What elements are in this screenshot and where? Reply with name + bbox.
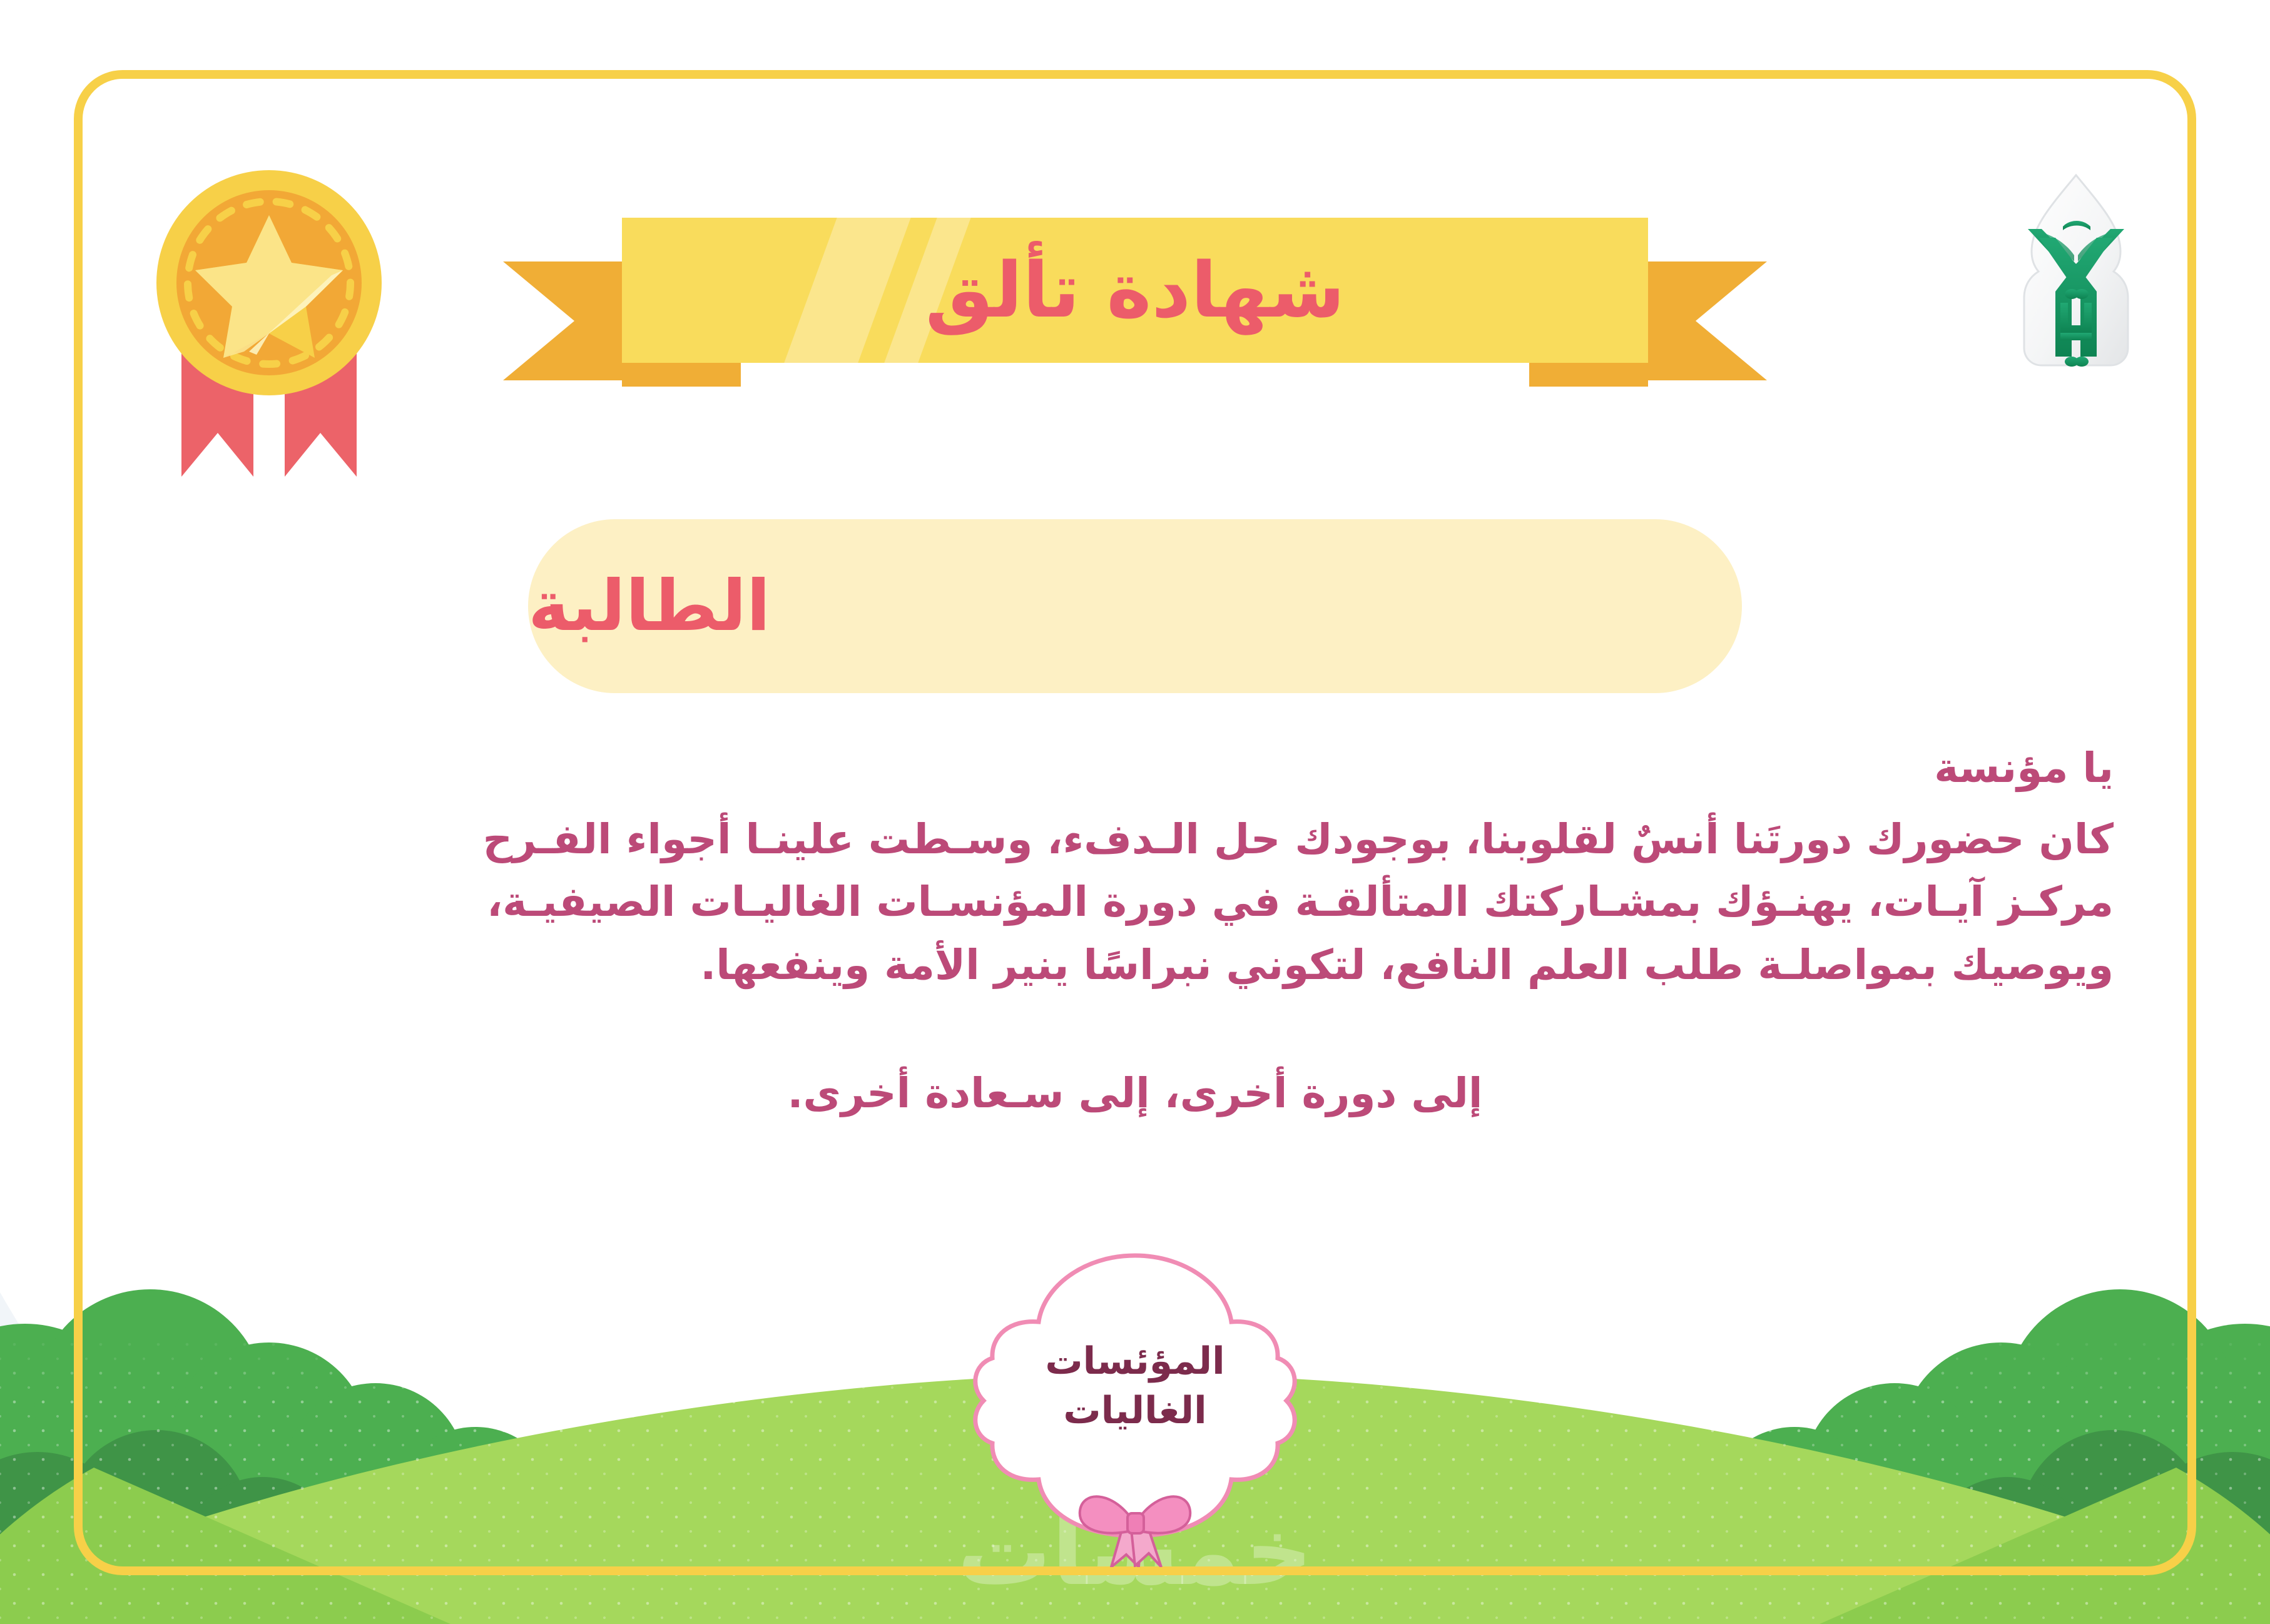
closing-line: إلى دورة أخرى، إلى سـعادة أخرى. — [156, 1069, 2114, 1117]
certificate-title: شهادة تألق — [925, 252, 1345, 328]
ayat-center-logo-icon — [1998, 169, 2154, 375]
certificate-page: خمسات شهادة تألق — [0, 0, 2270, 1624]
recipient-name-field[interactable]: الطالبة — [528, 519, 1742, 693]
body-line-1: كان حضورك دورتَنا أنسٌ لقلوبنا، بوجودك ح… — [156, 808, 2114, 871]
certificate-title-banner: شهادة تألق — [622, 218, 1648, 387]
banner-underfold-left — [622, 360, 741, 387]
program-seal: المؤئسات الغاليات — [966, 1242, 1304, 1567]
body-line-3: ويوصيك بمواصلـة طلب العلم النافع، لتكوني… — [156, 934, 2114, 997]
banner-underfold-right — [1529, 360, 1648, 387]
seal-scallop — [975, 1256, 1295, 1536]
award-medal-icon — [144, 164, 394, 483]
salutation: يا مؤنسة — [156, 744, 2114, 792]
recipient-name: الطالبة — [528, 571, 770, 641]
certificate-body: يا مؤنسة كان حضورك دورتَنا أنسٌ لقلوبنا،… — [156, 744, 2114, 1159]
banner-body: شهادة تألق — [622, 218, 1648, 363]
body-line-2: مركـز آيـات، يهنـؤك بمشـاركتك المتألقـة … — [156, 871, 2114, 933]
